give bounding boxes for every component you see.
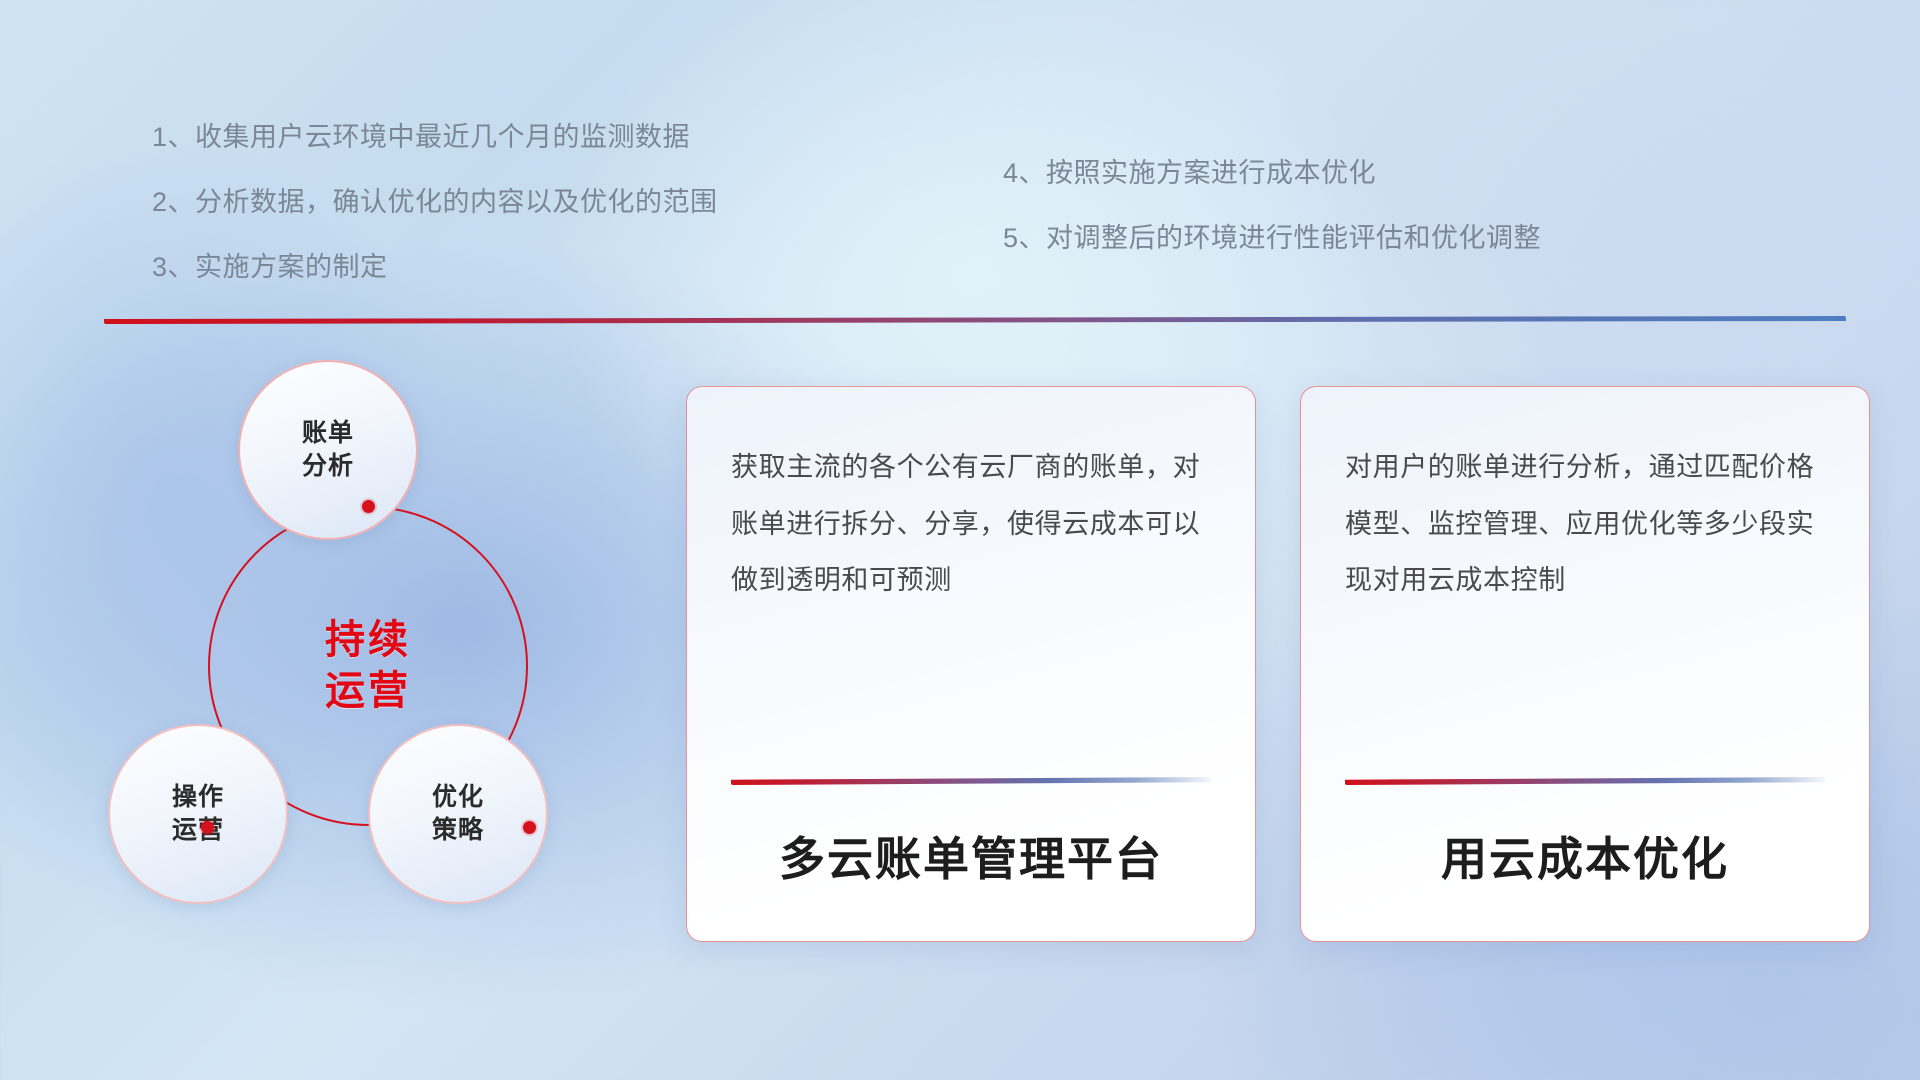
info-card-body: 对用户的账单进行分析，通过匹配价格模型、监控管理、应用优化等多少段实现对用云成本… <box>1345 439 1825 609</box>
info-card-divider-rule <box>731 777 1211 785</box>
cycle-diagram: 持续 运营 账单 分析 操作 运营 优化 策略 <box>96 352 616 972</box>
step-item-1: 1、收集用户云环境中最近几个月的监测数据 <box>152 124 718 151</box>
cycle-node-label-line1: 优化 <box>432 781 484 814</box>
cycle-node-label: 操作 运营 <box>172 781 224 847</box>
cycle-node-optimization-strategy[interactable]: 优化 策略 <box>368 724 548 904</box>
cycle-node-label-line2: 策略 <box>432 814 484 847</box>
cycle-node-label-line2: 运营 <box>172 814 224 847</box>
info-card-title: 用云成本优化 <box>1345 823 1825 889</box>
info-card-title: 多云账单管理平台 <box>731 823 1211 889</box>
steps-list-right: 4、按照实施方案进行成本优化 5、对调整后的环境进行性能评估和优化调整 <box>1003 160 1541 290</box>
cycle-node-label-line1: 账单 <box>302 417 354 450</box>
cycle-node-label-line2: 分析 <box>302 450 354 483</box>
cycle-center-label-line2: 运营 <box>325 666 411 717</box>
info-card-divider-rule <box>1345 777 1825 785</box>
cycle-node-label-line1: 操作 <box>172 781 224 814</box>
cycle-connector-dot-icon <box>523 821 536 834</box>
cycle-connector-dot-icon <box>362 500 375 513</box>
info-card-billing-platform[interactable]: 获取主流的各个公有云厂商的账单，对账单进行拆分、分享，使得云成本可以做到透明和可… <box>686 386 1256 942</box>
step-item-4: 4、按照实施方案进行成本优化 <box>1003 160 1541 187</box>
step-item-5: 5、对调整后的环境进行性能评估和优化调整 <box>1003 225 1541 252</box>
cycle-node-label: 账单 分析 <box>302 417 354 483</box>
cycle-node-label: 优化 策略 <box>432 781 484 847</box>
cycle-center-label: 持续 运营 <box>325 615 411 717</box>
steps-list-left: 1、收集用户云环境中最近几个月的监测数据 2、分析数据，确认优化的内容以及优化的… <box>152 124 718 319</box>
cycle-node-billing-analysis[interactable]: 账单 分析 <box>238 360 418 540</box>
cycle-connector-dot-icon <box>201 821 214 834</box>
step-item-2: 2、分析数据，确认优化的内容以及优化的范围 <box>152 189 718 216</box>
cycle-center-label-line1: 持续 <box>325 615 411 666</box>
info-card-body: 获取主流的各个公有云厂商的账单，对账单进行拆分、分享，使得云成本可以做到透明和可… <box>731 439 1211 609</box>
cycle-node-operations[interactable]: 操作 运营 <box>108 724 288 904</box>
step-item-3: 3、实施方案的制定 <box>152 254 718 281</box>
info-card-cost-optimization[interactable]: 对用户的账单进行分析，通过匹配价格模型、监控管理、应用优化等多少段实现对用云成本… <box>1300 386 1870 942</box>
